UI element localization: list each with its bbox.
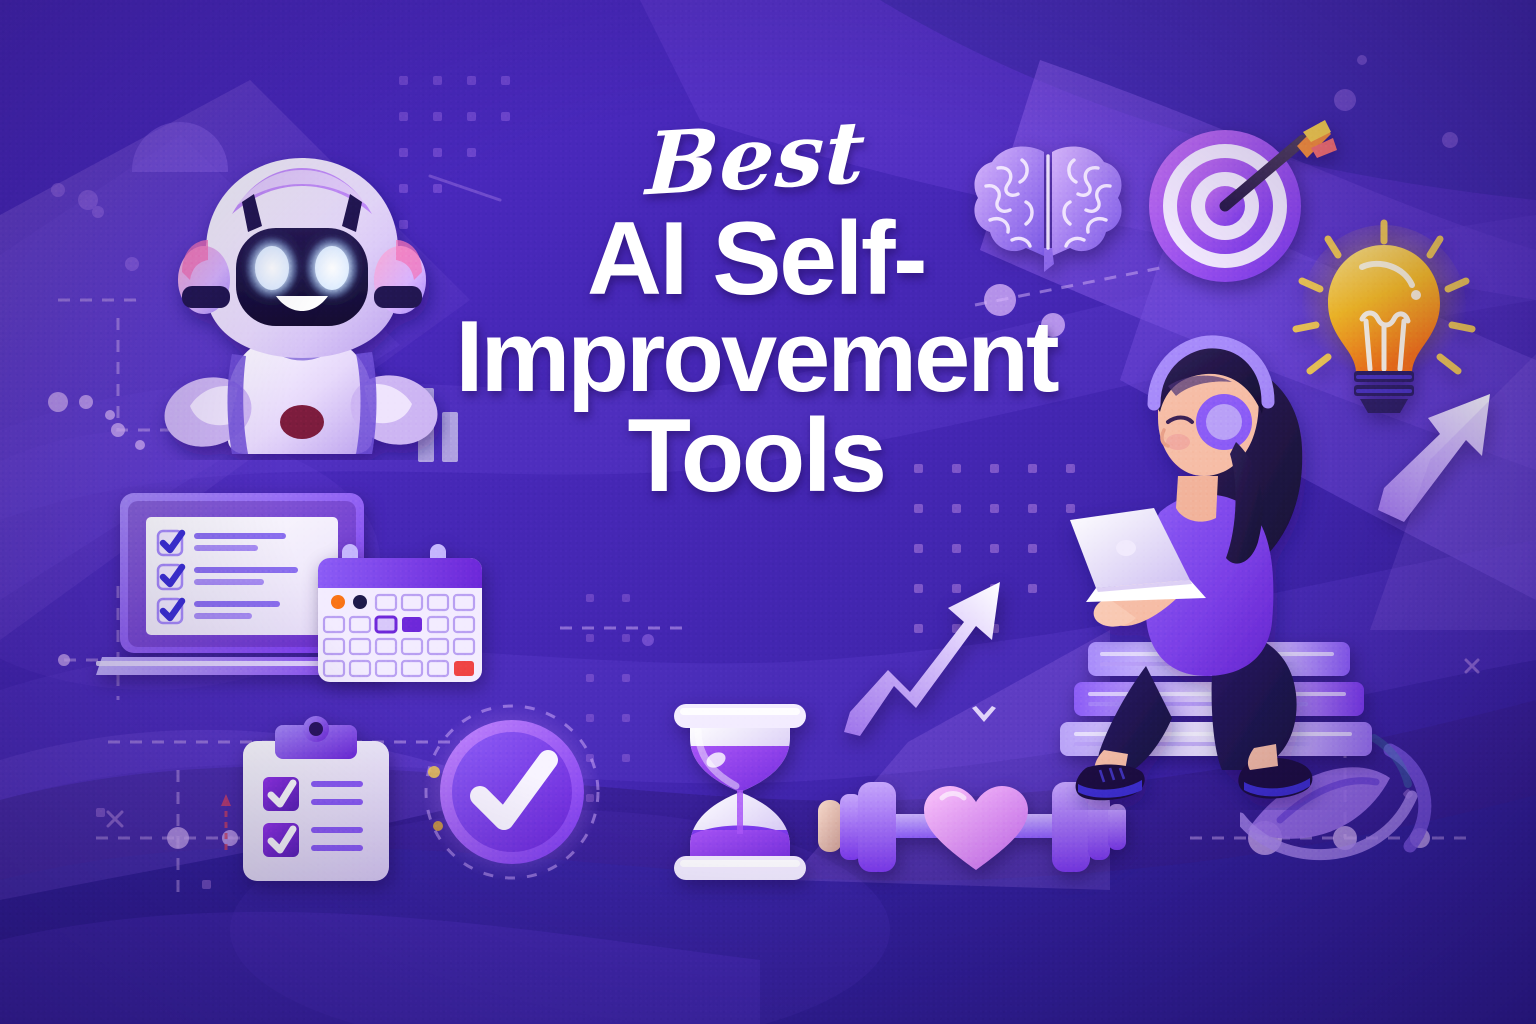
poster-canvas: Best AI Self- Improvement Tools [0,0,1536,1024]
check-badge-icon [420,700,610,890]
calendar-icon [310,540,490,690]
woman-laptop [1000,330,1400,810]
brain-icon [968,140,1128,275]
clipboard-icon [235,715,410,895]
chevron-down-icon [970,706,998,726]
hourglass-icon [660,690,820,895]
robot-mascot [150,140,450,460]
